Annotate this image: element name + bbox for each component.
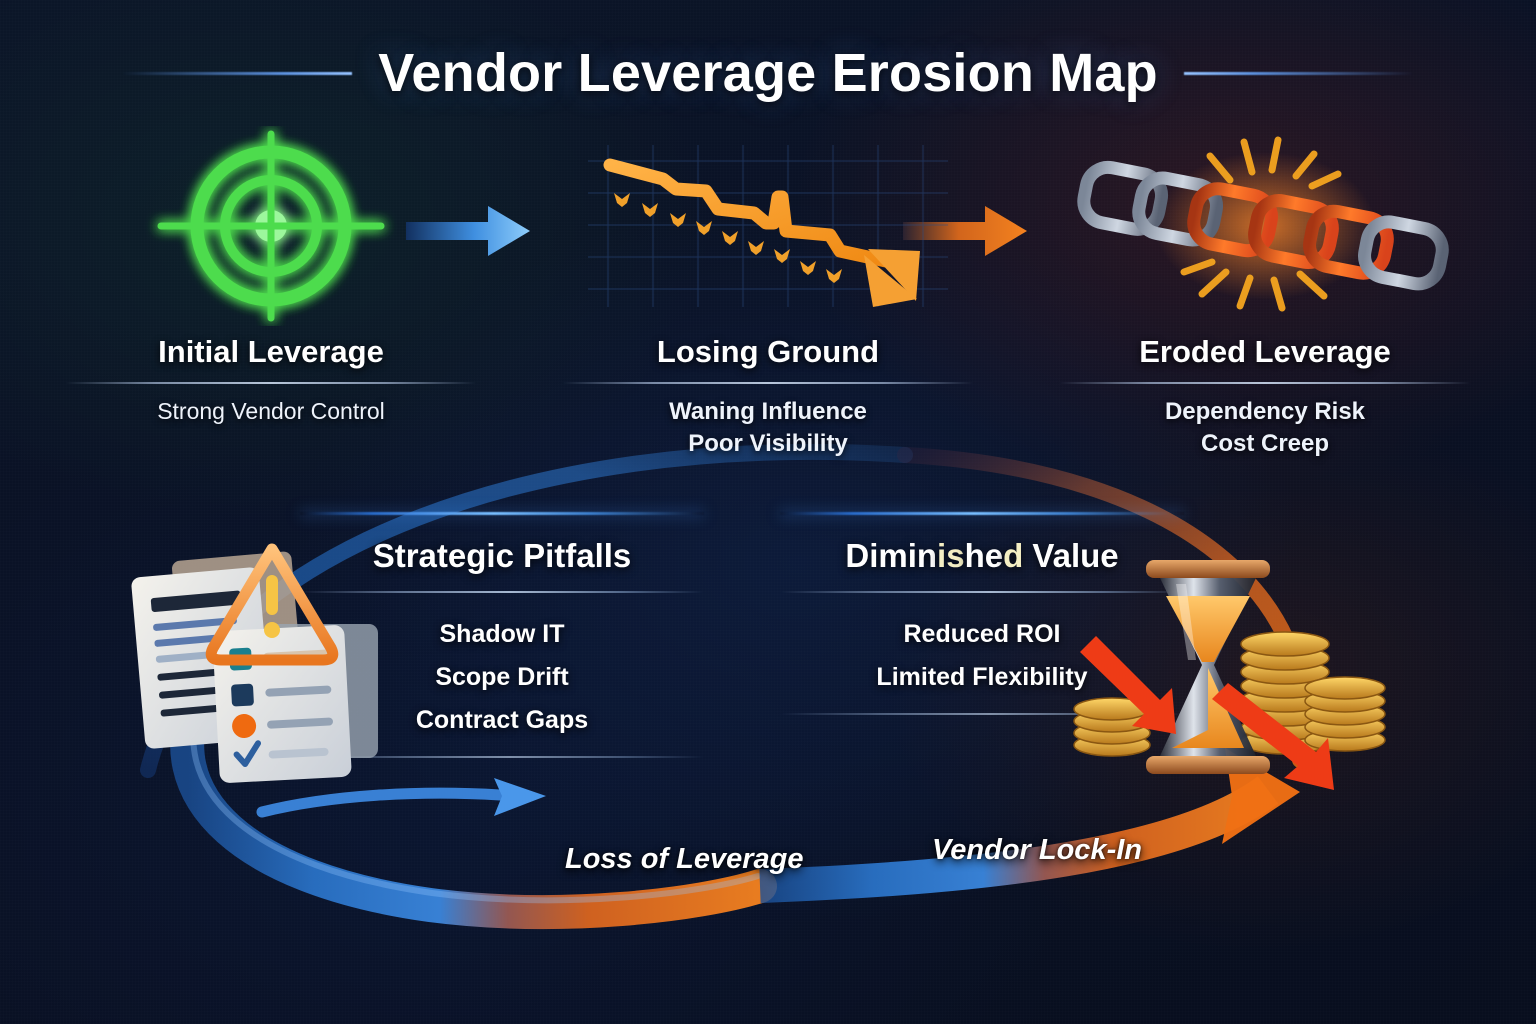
inner-blue-arrow [262, 778, 546, 816]
page-title: Vendor Leverage Erosion Map [352, 42, 1184, 104]
heading-part: Dimin [845, 537, 937, 574]
block-heading: Strategic Pitfalls [300, 537, 704, 575]
stage-item: Waning Influence [533, 396, 1003, 428]
stage-divider [65, 382, 477, 384]
flow-label-vendor-lock-in: Vendor Lock-In [932, 834, 1142, 867]
heading-part-tinted: d [1003, 537, 1023, 574]
block-divider-bottom [780, 713, 1184, 715]
stage-divider [1059, 382, 1471, 384]
declining-chart-arrow-icon [533, 128, 1003, 324]
block-item: Shadow IT [300, 613, 704, 656]
block-divider [780, 591, 1184, 593]
stage-item: Strong Vendor Control [36, 396, 506, 427]
stage-initial-leverage[interactable]: Initial Leverage Strong Vendor Control [36, 128, 506, 427]
block-divider-bottom [300, 756, 704, 758]
block-diminished-value[interactable]: Diminished Value Reduced ROI Limited Fle… [780, 512, 1184, 715]
heading-part-tinted: is [937, 537, 965, 574]
title-rule-right-icon [1184, 72, 1414, 75]
block-divider [300, 591, 704, 593]
flow-label-loss-of-leverage: Loss of Leverage [565, 843, 804, 876]
block-item: Scope Drift [300, 656, 704, 699]
page-title-bar: Vendor Leverage Erosion Map [0, 34, 1536, 112]
heading-part: Value [1023, 537, 1118, 574]
block-accent-line [780, 512, 1184, 515]
block-strategic-pitfalls[interactable]: Strategic Pitfalls Shadow IT Scope Drift… [300, 512, 704, 758]
stage-item: Cost Creep [1030, 428, 1500, 460]
block-heading: Diminished Value [780, 537, 1184, 575]
stage-heading: Initial Leverage [36, 334, 506, 370]
heading-part: he [965, 537, 1004, 574]
target-crosshair-icon [36, 128, 506, 324]
block-item: Reduced ROI [780, 613, 1184, 656]
block-item: Contract Gaps [300, 699, 704, 742]
breaking-chain-icon [1030, 128, 1500, 324]
title-rule-left-icon [122, 72, 352, 75]
stage-heading: Losing Ground [533, 334, 1003, 370]
stage-item: Poor Visibility [533, 428, 1003, 460]
block-accent-line [300, 512, 704, 515]
stage-losing-ground[interactable]: Losing Ground Waning Influence Poor Visi… [533, 128, 1003, 460]
stage-divider [562, 382, 974, 384]
infographic-canvas: Vendor Leverage Erosion Map [0, 0, 1536, 1024]
stage-eroded-leverage[interactable]: Eroded Leverage Dependency Risk Cost Cre… [1030, 128, 1500, 460]
block-item: Limited Flexibility [780, 656, 1184, 699]
stage-item: Dependency Risk [1030, 396, 1500, 428]
stage-heading: Eroded Leverage [1030, 334, 1500, 370]
